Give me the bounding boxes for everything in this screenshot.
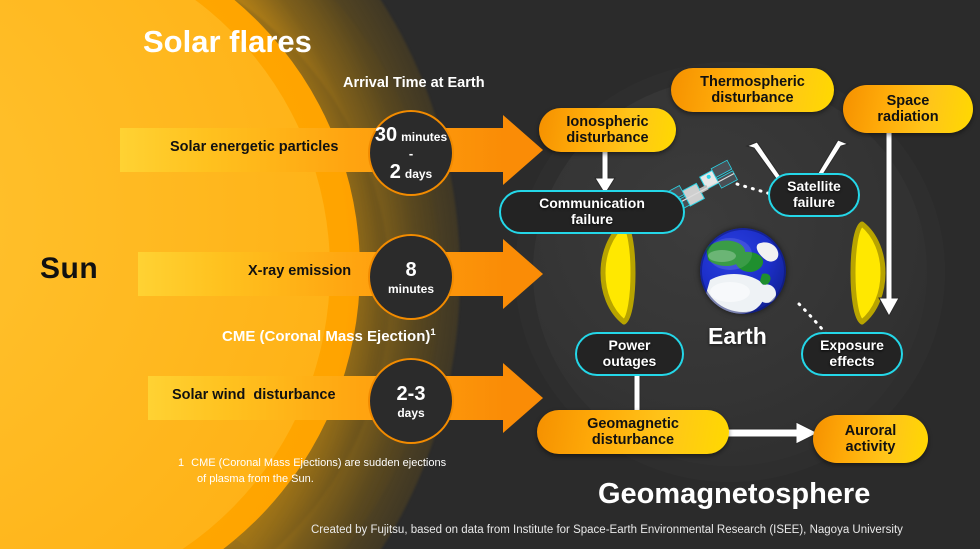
geomagnetosphere-label: Geomagnetosphere <box>598 478 870 511</box>
page-title: Solar flares <box>143 24 312 60</box>
footnote-number: 1 <box>178 457 184 469</box>
pill-line-1: Thermospheric <box>700 74 805 90</box>
outpill-line-1: Power <box>608 337 650 353</box>
pill-line-2: disturbance <box>711 90 793 106</box>
arrival-time-unit: minutes <box>401 131 447 143</box>
credit-line: Created by Fujitsu, based on data from I… <box>311 524 903 536</box>
pill-line-1: Ionospheric <box>566 114 648 130</box>
arrow-geomagnetic-to-auroral <box>724 420 820 446</box>
pill-line-2: radiation <box>877 109 938 125</box>
outpill-satellite-failure[interactable]: Satellite failure <box>768 173 860 217</box>
pill-thermospheric-disturbance[interactable]: Thermospheric disturbance <box>671 68 834 112</box>
infographic-canvas: Sun Solar flares Arrival Time at Earth S… <box>0 0 980 549</box>
outpill-line-2: effects <box>829 353 874 369</box>
outpill-line-1: Exposure <box>820 337 884 353</box>
pill-line-2: activity <box>846 439 896 455</box>
arrival-time-dash: - <box>409 147 413 160</box>
pill-ionospheric-disturbance[interactable]: Ionospheric disturbance <box>539 108 676 152</box>
footnote-line-2: of plasma from the Sun. <box>197 472 446 488</box>
cme-label: CME (Coronal Mass Ejection)1 <box>222 327 436 345</box>
arrival-time-value: 8 <box>405 260 416 280</box>
pill-line-2: disturbance <box>566 130 648 146</box>
outpill-line-2: outages <box>603 353 657 369</box>
outpill-line-2: failure <box>571 211 613 227</box>
earth-label: Earth <box>708 323 767 350</box>
arrival-time-heading: Arrival Time at Earth <box>343 75 485 91</box>
sun-label: Sun <box>40 252 98 286</box>
arrival-time-badge-3: 2-3 days <box>368 358 454 444</box>
flow-arrowhead <box>503 239 543 309</box>
pill-line-1: Auroral <box>845 423 897 439</box>
footnote-line-1: CME (Coronal Mass Ejections) are sudden … <box>191 457 446 469</box>
pill-geomagnetic-disturbance[interactable]: Geomagnetic disturbance <box>537 410 729 454</box>
arrow-space-radiation-to-exposure <box>876 128 902 318</box>
outpill-line-2: failure <box>793 194 835 210</box>
outpill-exposure-effects[interactable]: Exposure effects <box>801 332 903 376</box>
pill-auroral-activity[interactable]: Auroral activity <box>813 415 928 463</box>
outpill-line-1: Communication <box>539 195 645 211</box>
van-allen-belt-left-icon <box>580 218 650 328</box>
flow-label: X-ray emission <box>248 263 351 279</box>
arrival-time-badge-1: 30 minutes - 2 days <box>368 110 454 196</box>
pill-line-1: Space <box>887 93 930 109</box>
cme-footnote-marker: 1 <box>430 327 435 338</box>
outpill-line-1: Satellite <box>787 178 841 194</box>
flow-solar-energetic-particles: Solar energetic particles <box>120 128 540 172</box>
outpill-communication-failure[interactable]: Communication failure <box>499 190 685 234</box>
earth-globe-icon <box>700 228 786 314</box>
arrival-time-value: 2-3 <box>397 384 426 404</box>
arrow-ionospheric-to-communication <box>592 148 618 196</box>
arrival-time-badge-2: 8 minutes <box>368 234 454 320</box>
arrival-time-unit: minutes <box>388 283 434 295</box>
flow-solar-wind-disturbance: Solar wind disturbance <box>148 376 540 420</box>
pill-space-radiation[interactable]: Space radiation <box>843 85 973 133</box>
outpill-power-outages[interactable]: Power outages <box>575 332 684 376</box>
flow-label: Solar energetic particles <box>170 139 338 155</box>
arrival-time-value: 30 <box>375 125 397 145</box>
cme-label-text: CME (Coronal Mass Ejection) <box>222 328 430 345</box>
flow-label: Solar wind disturbance <box>172 387 336 403</box>
flow-xray-emission: X-ray emission <box>138 252 538 296</box>
pill-line-1: Geomagnetic <box>587 416 679 432</box>
flow-arrowhead <box>503 363 543 433</box>
arrival-time-value-2: 2 <box>390 162 401 182</box>
arrival-time-unit-2: days <box>405 168 432 180</box>
flow-arrowhead <box>503 115 543 185</box>
footnote: 1CME (Coronal Mass Ejections) are sudden… <box>178 456 446 488</box>
pill-line-2: disturbance <box>592 432 674 448</box>
arrival-time-unit: days <box>397 407 424 419</box>
